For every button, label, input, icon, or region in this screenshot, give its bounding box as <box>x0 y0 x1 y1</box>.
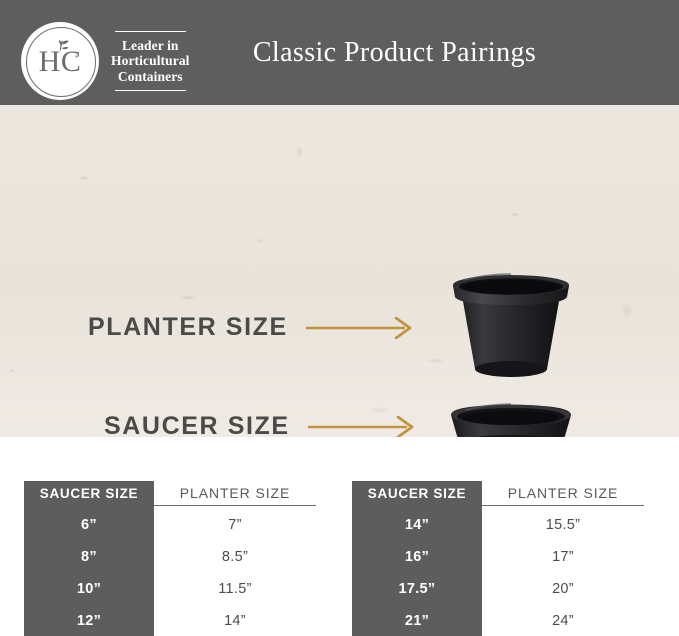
planter-size-column: 15.5” 17” 20” 24” <box>482 506 644 636</box>
tagline-line-2: Horticultural <box>111 53 190 69</box>
product-stage: PLANTER SIZE SAUCER SIZE <box>0 105 679 437</box>
table-body: 14” 16” 17.5” 21” 15.5” 17” 20” 24” <box>352 506 644 636</box>
table-cell: 17.5” <box>352 573 482 605</box>
table-cell: 16” <box>352 541 482 573</box>
small-sizes-table: SAUCER SIZE PLANTER SIZE 6” 8” 10” 12” 7… <box>24 481 316 636</box>
brand-logo: HC Leader in Horticultural Containers <box>21 22 192 100</box>
brand-tagline: Leader in Horticultural Containers <box>109 31 192 92</box>
saucer-size-column: 6” 8” 10” 12” <box>24 506 154 636</box>
column-header-planter: PLANTER SIZE <box>154 481 316 506</box>
planter-size-row: PLANTER SIZE <box>88 313 416 342</box>
table-cell: 8.5” <box>154 541 316 573</box>
tagline-line-3: Containers <box>111 69 190 85</box>
hc-logo-badge: HC <box>21 22 99 100</box>
table-cell: 15.5” <box>482 509 644 541</box>
table-cell: 11.5” <box>154 573 316 605</box>
saucer-dish-icon <box>447 401 575 437</box>
table-header-row: SAUCER SIZE PLANTER SIZE <box>24 481 316 506</box>
table-cell: 8” <box>24 541 154 573</box>
column-header-saucer: SAUCER SIZE <box>24 481 154 506</box>
right-arrow-icon <box>308 416 418 438</box>
saucer-size-row: SAUCER SIZE <box>104 412 418 437</box>
planter-pot-icon <box>447 272 575 384</box>
black-saucer-dish <box>447 401 575 437</box>
large-sizes-table: SAUCER SIZE PLANTER SIZE 14” 16” 17.5” 2… <box>352 481 644 636</box>
column-header-saucer: SAUCER SIZE <box>352 481 482 506</box>
hc-monogram-icon: HC <box>29 30 91 92</box>
planter-size-label: PLANTER SIZE <box>88 313 288 342</box>
table-cell: 14” <box>154 605 316 636</box>
table-cell: 21” <box>352 605 482 636</box>
table-cell: 7” <box>154 509 316 541</box>
table-cell: 17” <box>482 541 644 573</box>
table-cell: 20” <box>482 573 644 605</box>
product-pairings-infographic: HC Leader in Horticultural Containers Cl… <box>0 0 679 636</box>
table-cell: 12” <box>24 605 154 636</box>
right-arrow-icon <box>306 317 416 339</box>
table-cell: 10” <box>24 573 154 605</box>
column-header-planter: PLANTER SIZE <box>482 481 644 506</box>
tagline-line-1: Leader in <box>111 38 190 54</box>
header-bar: HC Leader in Horticultural Containers Cl… <box>0 0 679 105</box>
table-cell: 24” <box>482 605 644 636</box>
stone-surface-background <box>0 105 679 437</box>
table-cell: 14” <box>352 509 482 541</box>
size-chart-tables: SAUCER SIZE PLANTER SIZE 6” 8” 10” 12” 7… <box>0 481 679 636</box>
saucer-size-label: SAUCER SIZE <box>104 412 290 437</box>
table-header-row: SAUCER SIZE PLANTER SIZE <box>352 481 644 506</box>
table-body: 6” 8” 10” 12” 7” 8.5” 11.5” 14” <box>24 506 316 636</box>
table-cell: 6” <box>24 509 154 541</box>
saucer-size-column: 14” 16” 17.5” 21” <box>352 506 482 636</box>
black-planter-pot <box>447 272 575 389</box>
planter-size-column: 7” 8.5” 11.5” 14” <box>154 506 316 636</box>
